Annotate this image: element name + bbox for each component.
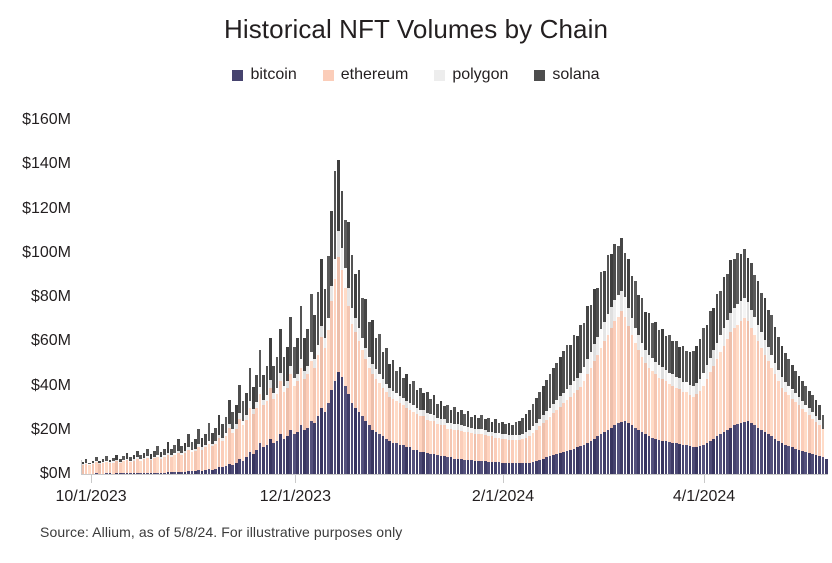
bar-segment-bitcoin xyxy=(354,408,357,474)
bar-segment-polygon xyxy=(651,358,654,371)
bar-segment-polygon xyxy=(791,390,794,399)
bar-segment-polygon xyxy=(613,300,616,322)
bar-segment-bitcoin xyxy=(518,463,521,474)
bar-segment-bitcoin xyxy=(364,421,367,474)
bar-segment-bitcoin xyxy=(532,462,535,474)
bar-segment-bitcoin xyxy=(559,453,562,474)
bar-segment-polygon xyxy=(170,455,173,457)
bar-segment-solana xyxy=(699,339,702,379)
bar-segment-solana xyxy=(521,418,524,433)
bar-segment-polygon xyxy=(88,464,91,465)
bar-segment-ethereum xyxy=(794,402,797,448)
bar-segment-bitcoin xyxy=(422,452,425,474)
bar-segment-ethereum xyxy=(477,434,480,461)
bar-segment-polygon xyxy=(129,461,132,462)
bar-segment-bitcoin xyxy=(296,432,299,474)
bar-segment-ethereum xyxy=(324,348,327,412)
bar-segment-bitcoin xyxy=(764,432,767,474)
bar-segment-solana xyxy=(204,434,207,445)
bar-segment-bitcoin xyxy=(344,386,347,475)
bar-segment-polygon xyxy=(388,388,391,396)
bar-segment-ethereum xyxy=(716,359,719,436)
bar-segment-ethereum xyxy=(590,368,593,441)
bar-segment-solana xyxy=(453,407,456,424)
source-note: Source: Allium, as of 5/8/24. For illust… xyxy=(40,524,402,540)
bar-segment-polygon xyxy=(85,463,88,464)
bar-segment-polygon xyxy=(139,459,142,460)
bar-segment-polygon xyxy=(603,322,606,341)
bar-segment-ethereum xyxy=(150,460,153,473)
bar-segment-polygon xyxy=(566,389,569,400)
bar-segment-polygon xyxy=(385,384,388,392)
bar-segment-solana xyxy=(542,386,545,415)
bar-segment-solana xyxy=(378,334,381,374)
bar-segment-ethereum xyxy=(811,419,814,454)
bar-segment-ethereum xyxy=(289,374,292,429)
bar-segment-bitcoin xyxy=(293,434,296,474)
bar-segment-polygon xyxy=(695,383,698,394)
bar-segment-polygon xyxy=(818,420,821,426)
bar-segment-solana xyxy=(139,455,142,459)
bar-segment-bitcoin xyxy=(286,436,289,474)
bar-segment-bitcoin xyxy=(395,443,398,474)
bar-segment-solana xyxy=(559,357,562,397)
bar-segment-polygon xyxy=(412,405,415,412)
bar-segment-polygon xyxy=(699,379,702,391)
bar-segment-bitcoin xyxy=(620,422,623,474)
bar-segment-ethereum xyxy=(126,460,129,473)
bar-segment-bitcoin xyxy=(337,372,340,474)
bar-segment-solana xyxy=(272,366,275,393)
bar-segment-solana xyxy=(525,414,528,432)
bar-segment-polygon xyxy=(92,463,95,464)
bar-segment-bitcoin xyxy=(511,463,514,474)
bar-segment-solana xyxy=(167,442,170,452)
bar-segment-polygon xyxy=(470,428,473,433)
bar-segment-polygon xyxy=(320,326,323,337)
bar-segment-ethereum xyxy=(293,386,296,435)
bar-segment-solana xyxy=(163,449,166,456)
bar-segment-solana xyxy=(804,386,807,405)
bar-segment-ethereum xyxy=(351,324,354,404)
bar-segment-solana xyxy=(405,374,408,401)
bar-segment-polygon xyxy=(245,415,248,420)
y-axis-tick-label: $20M xyxy=(31,421,71,439)
bar-segment-polygon xyxy=(126,459,129,460)
bar-segment-ethereum xyxy=(173,455,176,472)
bar-segment-ethereum xyxy=(122,461,125,473)
bar-segment-ethereum xyxy=(695,394,698,447)
bar-segment-bitcoin xyxy=(409,447,412,474)
bar-segment-solana xyxy=(695,346,698,384)
bar-segment-polygon xyxy=(757,325,760,341)
bar-segment-solana xyxy=(818,405,821,419)
bar-segment-polygon xyxy=(218,435,221,439)
bar-segment-bitcoin xyxy=(729,428,732,474)
bar-segment-polygon xyxy=(712,350,715,365)
bar-segment-polygon xyxy=(586,359,589,374)
bar-segment-ethereum xyxy=(535,430,538,461)
bar-segment-ethereum xyxy=(494,438,497,462)
bar-segment-ethereum xyxy=(354,332,357,407)
bar-segment-polygon xyxy=(794,393,797,402)
bar-segment-polygon xyxy=(436,418,439,424)
bar-segment-bitcoin xyxy=(634,428,637,474)
bar-segment-solana xyxy=(457,412,460,424)
bar-segment-ethereum xyxy=(156,457,159,473)
bar-segment-ethereum xyxy=(167,455,170,473)
bar-segment-ethereum xyxy=(685,392,688,445)
bar-segment-solana xyxy=(532,404,535,426)
bar-segment-polygon xyxy=(689,385,692,395)
bar-segment-ethereum xyxy=(757,341,760,427)
bar-segment-ethereum xyxy=(699,391,702,446)
bar-segment-ethereum xyxy=(184,453,187,472)
bar-segment-solana xyxy=(214,428,217,441)
bar-segment-ethereum xyxy=(798,405,801,449)
bar-segment-solana xyxy=(231,412,234,429)
bar-segment-solana xyxy=(620,238,623,291)
bar-segment-polygon xyxy=(668,373,671,385)
bar-segment-solana xyxy=(651,323,654,358)
bar-segment-polygon xyxy=(351,308,354,323)
bar-segment-solana xyxy=(637,295,640,335)
bar-segment-bitcoin xyxy=(593,439,596,474)
bar-segment-polygon xyxy=(361,338,364,350)
bar-segment-polygon xyxy=(255,402,258,408)
y-axis-tick-label: $80M xyxy=(31,288,71,306)
bar-segment-solana xyxy=(225,417,228,432)
bar-segment-ethereum xyxy=(631,335,634,426)
bar-segment-ethereum xyxy=(146,458,149,473)
bar-segment-polygon xyxy=(368,357,371,368)
bar-segment-bitcoin xyxy=(392,443,395,474)
bar-segment-polygon xyxy=(153,457,156,459)
bar-segment-solana xyxy=(191,442,194,450)
bar-segment-solana xyxy=(317,292,320,345)
bar-segment-solana xyxy=(501,422,504,434)
bar-segment-solana xyxy=(286,347,289,380)
bar-segment-solana xyxy=(416,390,419,408)
bar-segment-polygon xyxy=(327,318,330,330)
bar-segment-bitcoin xyxy=(726,430,729,474)
bar-segment-ethereum xyxy=(344,288,347,385)
bar-segment-ethereum xyxy=(317,355,320,417)
bar-segment-ethereum xyxy=(177,453,180,472)
bar-segment-solana xyxy=(293,347,296,378)
bar-segment-solana xyxy=(822,415,825,428)
bar-segment-polygon xyxy=(375,369,378,379)
bar-segment-polygon xyxy=(538,419,541,427)
bar-segment-polygon xyxy=(798,397,801,405)
bar-segment-bitcoin xyxy=(736,424,739,474)
bar-segment-bitcoin xyxy=(330,390,333,474)
bar-segment-solana xyxy=(535,398,538,422)
bar-segment-polygon xyxy=(279,373,282,381)
bar-segment-polygon xyxy=(804,405,807,413)
x-axis-line xyxy=(81,474,828,475)
bar-segment-polygon xyxy=(620,291,623,312)
y-axis-tick-label: $160M xyxy=(22,111,71,129)
bar-segment-solana xyxy=(320,259,323,325)
bar-segment-ethereum xyxy=(463,432,466,460)
bar-segment-bitcoin xyxy=(238,459,241,474)
x-axis-tick-mark xyxy=(503,474,504,483)
bar-segment-bitcoin xyxy=(549,456,552,474)
bar-segment-bitcoin xyxy=(583,445,586,474)
bar-segment-solana xyxy=(712,308,715,350)
bar-segment-solana xyxy=(474,415,477,429)
bar-segment-bitcoin xyxy=(375,432,378,474)
bar-segment-ethereum xyxy=(559,407,562,453)
bar-segment-polygon xyxy=(494,433,497,438)
bar-segment-solana xyxy=(808,391,811,409)
bar-segment-solana xyxy=(92,461,95,464)
bar-segment-solana xyxy=(242,401,245,421)
bar-segment-solana xyxy=(798,376,801,397)
bar-segment-ethereum xyxy=(654,374,657,438)
bar-segment-solana xyxy=(716,294,719,343)
bar-segment-polygon xyxy=(228,424,231,428)
bar-segment-ethereum xyxy=(804,412,807,452)
bar-segment-ethereum xyxy=(815,422,818,455)
bar-segment-bitcoin xyxy=(716,436,719,474)
bar-segment-solana xyxy=(358,270,361,328)
bar-segment-polygon xyxy=(501,434,504,439)
bar-segment-bitcoin xyxy=(685,445,688,474)
bar-segment-polygon xyxy=(95,461,98,462)
bar-segment-ethereum xyxy=(487,436,490,461)
bar-segment-polygon xyxy=(665,370,668,382)
bar-segment-polygon xyxy=(685,382,688,392)
bar-segment-solana xyxy=(658,330,661,365)
bar-segment-ethereum xyxy=(511,440,514,463)
bar-segment-bitcoin xyxy=(460,459,463,474)
bar-segment-solana xyxy=(429,399,432,414)
bar-segment-polygon xyxy=(453,424,456,430)
bar-segment-polygon xyxy=(337,231,340,258)
bar-segment-bitcoin xyxy=(306,428,309,474)
bar-segment-polygon xyxy=(528,430,531,436)
bar-segment-polygon xyxy=(617,295,620,317)
bar-segment-ethereum xyxy=(112,463,115,474)
bar-segment-solana xyxy=(160,452,163,457)
bar-segment-bitcoin xyxy=(644,434,647,474)
bar-segment-ethereum xyxy=(409,410,412,448)
bar-segment-solana xyxy=(385,348,388,383)
bar-segment-solana xyxy=(504,424,507,434)
bar-segment-ethereum xyxy=(429,421,432,454)
bar-segment-solana xyxy=(573,335,576,381)
bar-segment-ethereum xyxy=(416,414,419,449)
bar-segment-solana xyxy=(402,378,405,398)
bar-segment-bitcoin xyxy=(402,445,405,474)
bar-segment-bitcoin xyxy=(743,422,746,474)
bar-segment-solana xyxy=(470,417,473,428)
bar-segment-solana xyxy=(706,325,709,365)
bar-segment-solana xyxy=(344,220,347,269)
bar-segment-bitcoin xyxy=(515,463,518,474)
bar-segment-polygon xyxy=(726,320,729,339)
bar-segment-solana xyxy=(579,325,582,374)
bar-segment-bitcoin xyxy=(498,462,501,474)
bar-segment-polygon xyxy=(317,345,320,355)
bar-segment-ethereum xyxy=(347,306,350,395)
bar-segment-solana xyxy=(102,459,105,462)
bar-segment-bitcoin xyxy=(245,457,248,474)
bar-segment-solana xyxy=(364,299,367,348)
bar-segment-solana xyxy=(770,315,773,355)
bar-segment-ethereum xyxy=(579,387,582,447)
bar-segment-bitcoin xyxy=(542,459,545,474)
bar-segment-ethereum xyxy=(143,459,146,473)
bar-segment-bitcoin xyxy=(494,462,497,474)
bar-segment-solana xyxy=(330,211,333,286)
bar-segment-ethereum xyxy=(593,361,596,438)
bar-segment-bitcoin xyxy=(416,450,419,474)
bar-segment-bitcoin xyxy=(225,466,228,474)
bar-segment-polygon xyxy=(569,385,572,397)
bar-segment-polygon xyxy=(719,335,722,352)
bar-segment-polygon xyxy=(405,401,408,408)
bar-segment-polygon xyxy=(610,307,613,328)
bar-segment-polygon xyxy=(463,426,466,432)
bar-segment-polygon xyxy=(511,435,514,440)
bar-segment-ethereum xyxy=(457,430,460,459)
x-axis-tick-label: 4/1/2024 xyxy=(673,488,735,506)
bar-segment-solana xyxy=(709,311,712,357)
bar-segment-solana xyxy=(634,281,637,327)
bar-segment-polygon xyxy=(433,415,436,421)
bar-segment-solana xyxy=(361,298,364,338)
bar-segment-ethereum xyxy=(245,420,248,458)
bar-segment-ethereum xyxy=(450,429,453,458)
bar-segment-ethereum xyxy=(337,257,340,372)
bars-layer xyxy=(81,120,828,474)
bar-segment-bitcoin xyxy=(501,463,504,474)
bar-segment-solana xyxy=(508,423,511,435)
bar-segment-bitcoin xyxy=(378,434,381,474)
bar-segment-ethereum xyxy=(361,350,364,416)
bar-segment-solana xyxy=(211,433,214,444)
bar-segment-bitcoin xyxy=(654,439,657,474)
bar-segment-bitcoin xyxy=(504,463,507,474)
bar-segment-polygon xyxy=(262,400,265,406)
bar-segment-ethereum xyxy=(382,388,385,437)
bar-segment-bitcoin xyxy=(798,450,801,474)
bar-segment-solana xyxy=(467,411,470,426)
bar-segment-polygon xyxy=(579,373,582,386)
bar-segment-polygon xyxy=(440,419,443,425)
bar-segment-solana xyxy=(249,368,252,401)
bar-segment-bitcoin xyxy=(317,416,320,474)
bar-segment-bitcoin xyxy=(562,452,565,474)
bar-segment-polygon xyxy=(781,377,784,388)
bar-segment-ethereum xyxy=(395,401,398,443)
bar-segment-polygon xyxy=(187,447,190,450)
bar-segment-ethereum xyxy=(204,447,207,470)
bar-segment-solana xyxy=(607,255,610,315)
bar-segment-polygon xyxy=(289,366,292,374)
bar-segment-polygon xyxy=(409,403,412,410)
bar-segment-ethereum xyxy=(562,403,565,452)
bar-segment-polygon xyxy=(184,451,187,453)
bar-segment-ethereum xyxy=(733,328,736,425)
bar-segment-solana xyxy=(395,371,398,393)
bar-segment-bitcoin xyxy=(702,445,705,474)
bar-segment-solana xyxy=(757,281,760,325)
bar-segment-polygon xyxy=(555,400,558,410)
bar-segment-polygon xyxy=(402,398,405,405)
bar-segment-solana xyxy=(692,351,695,386)
bar-segment-bitcoin xyxy=(648,436,651,474)
bar-segment-bitcoin xyxy=(480,461,483,474)
bar-segment-solana xyxy=(177,439,180,451)
bar-segment-bitcoin xyxy=(334,381,337,474)
bar-segment-ethereum xyxy=(747,321,750,421)
bar-segment-polygon xyxy=(532,426,535,433)
bar-segment-solana xyxy=(303,338,306,371)
bar-segment-bitcoin xyxy=(467,460,470,474)
bar-segment-solana xyxy=(324,289,327,338)
x-axis-tick-label: 2/1/2024 xyxy=(472,488,534,506)
bar-segment-ethereum xyxy=(136,459,139,473)
bar-segment-bitcoin xyxy=(596,436,599,474)
bar-segment-ethereum xyxy=(208,444,211,469)
bar-segment-ethereum xyxy=(689,395,692,446)
bar-segment-ethereum xyxy=(170,457,173,473)
bar-segment-ethereum xyxy=(279,381,282,434)
bar-segment-polygon xyxy=(504,434,507,439)
bar-segment-ethereum xyxy=(88,465,91,473)
bar-segment-solana xyxy=(133,455,136,459)
bar-segment-bitcoin xyxy=(689,446,692,474)
bar-segment-polygon xyxy=(518,435,521,440)
bar-segment-bitcoin xyxy=(631,425,634,474)
bar-segment-solana xyxy=(146,449,149,457)
bar-segment-solana xyxy=(528,410,531,430)
bar-segment-bitcoin xyxy=(545,457,548,474)
bar-segment-solana xyxy=(661,329,664,367)
bar-segment-polygon xyxy=(197,444,200,447)
bar-segment-polygon xyxy=(378,374,381,383)
bar-segment-solana xyxy=(422,393,425,410)
bar-segment-polygon xyxy=(767,347,770,361)
bar-segment-ethereum xyxy=(187,450,190,471)
bar-segment-bitcoin xyxy=(637,430,640,474)
bar-segment-bitcoin xyxy=(825,459,828,474)
bar-segment-ethereum xyxy=(402,405,405,445)
bar-segment-bitcoin xyxy=(453,459,456,474)
bar-segment-bitcoin xyxy=(794,449,797,474)
bar-segment-polygon xyxy=(457,424,460,430)
bar-segment-solana xyxy=(753,275,756,317)
bar-segment-bitcoin xyxy=(784,445,787,474)
bar-segment-ethereum xyxy=(538,426,541,459)
bar-segment-bitcoin xyxy=(487,462,490,474)
bar-segment-polygon xyxy=(562,393,565,404)
bar-segment-polygon xyxy=(467,427,470,432)
bar-segment-solana xyxy=(218,415,221,435)
bar-segment-ethereum xyxy=(586,374,589,443)
bar-segment-polygon xyxy=(750,310,753,328)
bar-segment-polygon xyxy=(105,461,108,462)
bar-segment-ethereum xyxy=(709,372,712,441)
bar-segment-polygon xyxy=(259,387,262,394)
bar-segment-ethereum xyxy=(262,405,265,447)
bar-segment-polygon xyxy=(300,359,303,368)
bar-segment-polygon xyxy=(460,425,463,431)
